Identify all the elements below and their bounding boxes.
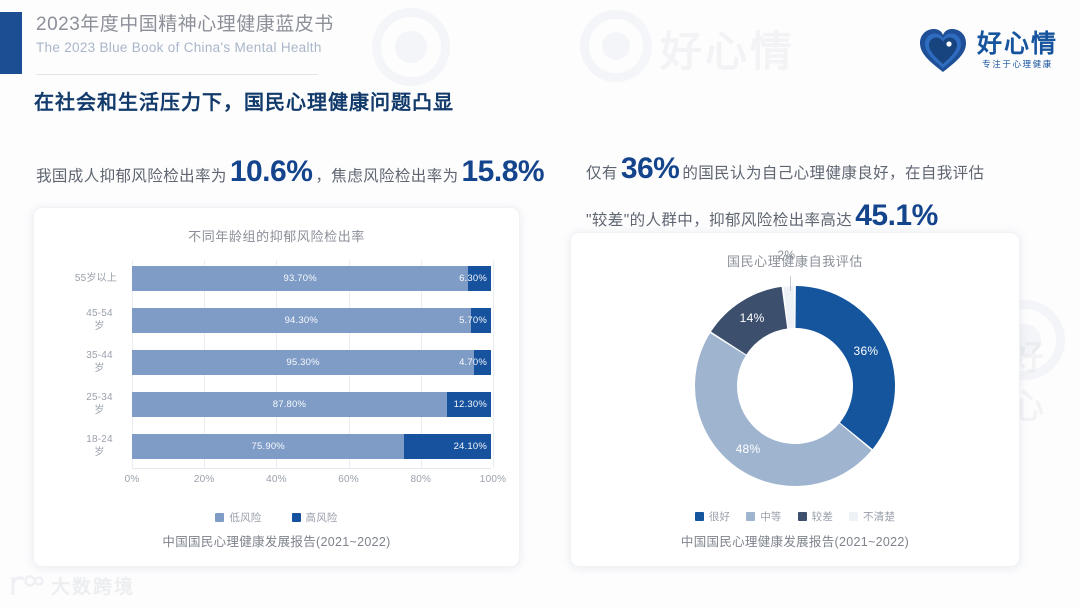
bar-segment-low-risk: 95.30% [132, 350, 474, 375]
bar-value-label: 6.30% [459, 273, 487, 284]
bar-category-label: 18-24岁 [84, 433, 124, 459]
bar-value-label: 95.30% [286, 357, 319, 368]
bar-segment-high-risk: 6.30% [468, 266, 491, 291]
brand-tagline: 专注于心理健康 [977, 58, 1058, 71]
bar-x-tick-label: 100% [480, 474, 506, 485]
header-accent-bar [0, 12, 22, 74]
bar-chart-card: 不同年龄组的抑郁风险检出率 75.90%24.10%18-24岁87.80%12… [33, 207, 520, 567]
bar-row: 95.30%4.70% [132, 350, 491, 375]
stat-left-text-2: ，焦虑风险检出率为 [315, 168, 458, 185]
stat-left-text-1: 我国成人抑郁风险检出率为 [36, 168, 227, 185]
bar-value-label: 94.30% [285, 315, 318, 326]
legend-swatch [849, 512, 858, 521]
bar-value-label: 93.70% [283, 273, 316, 284]
bar-x-axis [132, 468, 491, 469]
bar-chart-source: 中国国民心理健康发展报告(2021~2022) [34, 531, 519, 550]
bar-chart-legend: 低风险高风险 [34, 510, 519, 525]
report-title-cn: 2023年度中国精神心理健康蓝皮书 [36, 12, 334, 38]
bar-x-tick-label: 0% [125, 474, 140, 485]
report-title-en: The 2023 Blue Book of China's Mental Hea… [36, 38, 334, 58]
legend-label: 高风险 [306, 510, 338, 525]
corner-watermark-text: 大数跨境 [51, 572, 135, 599]
header-titles: 2023年度中国精神心理健康蓝皮书 The 2023 Blue Book of … [36, 12, 334, 58]
legend-swatch [292, 513, 301, 522]
bar-segment-low-risk: 75.90% [132, 434, 404, 459]
legend-label: 不清楚 [863, 509, 895, 524]
bar-segment-high-risk: 12.30% [447, 392, 491, 417]
bar-chart-title: 不同年龄组的抑郁风险检出率 [34, 208, 519, 245]
stat-right-value-1: 36% [618, 152, 683, 185]
heart-swirl-logo-icon [918, 28, 968, 74]
donut-slice-label: 14% [740, 311, 765, 325]
donut-slice-label: 48% [736, 442, 761, 456]
bar-x-tick-label: 20% [194, 474, 215, 485]
bar-segment-high-risk: 4.70% [474, 350, 491, 375]
page-header: 2023年度中国精神心理健康蓝皮书 The 2023 Blue Book of … [0, 12, 1080, 74]
donut-plot-area: 36%48%14%2% [571, 275, 1019, 510]
bar-value-label: 24.10% [454, 441, 487, 452]
legend-item[interactable]: 较差 [798, 509, 833, 524]
legend-item[interactable]: 低风险 [215, 510, 261, 525]
bar-value-label: 12.30% [454, 399, 487, 410]
brand-name: 好心情 [977, 31, 1058, 58]
bar-row: 75.90%24.10% [132, 434, 491, 459]
legend-item[interactable]: 很好 [695, 509, 730, 524]
header-divider [36, 74, 318, 75]
legend-swatch [215, 513, 224, 522]
legend-label: 较差 [812, 509, 833, 524]
donut-slice[interactable] [796, 286, 895, 449]
grid-line [493, 260, 494, 468]
stat-left-value-2: 15.8% [459, 155, 548, 188]
legend-item[interactable]: 不清楚 [849, 509, 895, 524]
legend-swatch [798, 512, 807, 521]
stat-right-text-3: "较差"的人群中，抑郁风险检出率高达 [586, 212, 852, 229]
bar-category-label: 45-54岁 [84, 307, 124, 333]
corner-watermark: 大数跨境 [10, 572, 135, 599]
bar-segment-low-risk: 93.70% [132, 266, 468, 291]
stat-right-value-2: 45.1% [852, 199, 941, 232]
background-watermark-text: 好心 [1010, 330, 1080, 428]
donut-slice-label: 36% [853, 344, 878, 358]
bar-value-label: 5.70% [459, 315, 487, 326]
bar-row: 87.80%12.30% [132, 392, 491, 417]
brand-logo-text: 好心情 专注于心理健康 [977, 31, 1058, 71]
donut-leader-line [790, 276, 791, 291]
stat-right-text-1: 仅有 [586, 165, 618, 182]
bar-segment-high-risk: 5.70% [471, 308, 491, 333]
bar-segment-high-risk: 24.10% [404, 434, 491, 459]
bar-category-label: 25-34岁 [84, 391, 124, 417]
corner-watermark-icon [10, 574, 44, 598]
bar-x-tick-label: 40% [266, 474, 287, 485]
bar-plot: 75.90%24.10%18-24岁87.80%12.30%25-34岁95.3… [132, 260, 491, 468]
bar-chart-plot-area: 75.90%24.10%18-24岁87.80%12.30%25-34岁95.3… [34, 252, 519, 502]
bar-segment-low-risk: 87.80% [132, 392, 447, 417]
stat-right-text-2: 的国民认为自己心理健康良好，在自我评估 [682, 165, 984, 182]
bar-x-tick-label: 80% [410, 474, 431, 485]
bar-category-label: 35-44岁 [84, 349, 124, 375]
brand-logo: 好心情 专注于心理健康 [918, 26, 1058, 76]
stat-line-left: 我国成人抑郁风险检出率为10.6%，焦虑风险检出率为15.8% [36, 155, 547, 189]
donut-chart-source: 中国国民心理健康发展报告(2021~2022) [571, 531, 1019, 550]
legend-swatch [695, 512, 704, 521]
bar-x-tick-label: 60% [338, 474, 359, 485]
legend-item[interactable]: 中等 [746, 509, 781, 524]
bar-value-label: 4.70% [459, 357, 487, 368]
legend-label: 中等 [760, 509, 781, 524]
bar-category-label: 55岁以上 [34, 272, 126, 285]
legend-label: 很好 [709, 509, 730, 524]
section-heading: 在社会和生活压力下，国民心理健康问题凸显 [34, 86, 454, 115]
bar-value-label: 75.90% [252, 441, 285, 452]
bar-row: 93.70%6.30% [132, 266, 491, 291]
stat-left-value-1: 10.6% [227, 155, 316, 188]
legend-swatch [746, 512, 755, 521]
legend-item[interactable]: 高风险 [292, 510, 338, 525]
donut-svg [680, 279, 910, 494]
stat-line-right: 仅有36%的国民认为自己心理健康良好，在自我评估 "较差"的人群中，抑郁风险检出… [586, 148, 1056, 242]
infographic-page: 好心情 好心 2023年度中国精神心理健康蓝皮书 The 2023 Blue B… [0, 0, 1080, 607]
bar-row: 94.30%5.70% [132, 308, 491, 333]
bar-value-label: 87.80% [273, 399, 306, 410]
donut-chart-legend: 很好中等较差不清楚 [571, 509, 1019, 524]
legend-label: 低风险 [229, 510, 261, 525]
donut-slice-label: 2% [777, 248, 795, 262]
bar-segment-low-risk: 94.30% [132, 308, 471, 333]
donut-chart-card: 国民心理健康自我评估 36%48%14%2% 很好中等较差不清楚 中国国民心理健… [570, 232, 1020, 567]
